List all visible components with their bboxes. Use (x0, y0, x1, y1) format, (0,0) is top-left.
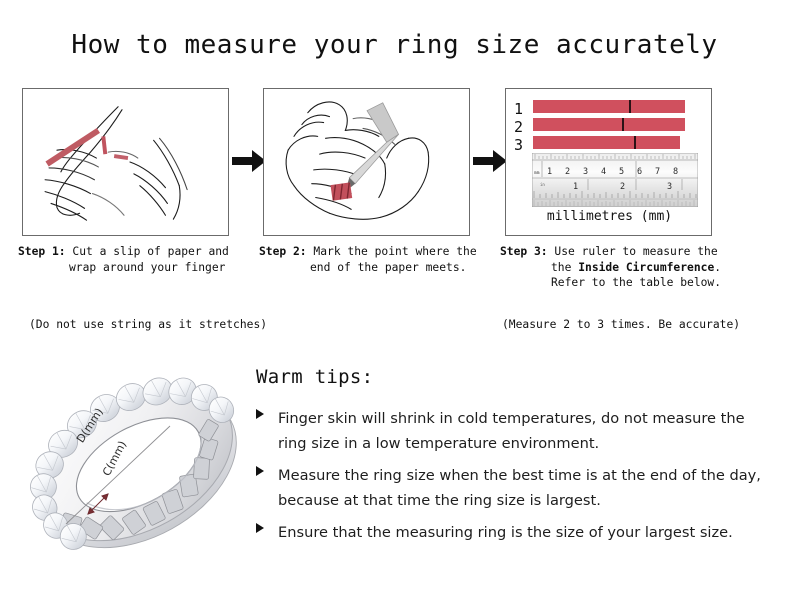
paper-strip-number-2: 2 (514, 118, 530, 136)
svg-text:mm: mm (534, 171, 540, 176)
hand-marking-with-pen-icon (264, 89, 469, 235)
step-2-line1: Mark the point where the (313, 245, 476, 258)
step-1-caption: Step 1: Cut a slip of paper and wrap aro… (18, 244, 250, 275)
triangle-bullet-icon (256, 466, 264, 476)
svg-text:8: 8 (673, 167, 678, 177)
step-2-line2: end of the paper meets. (259, 260, 491, 276)
svg-text:3: 3 (583, 167, 588, 177)
svg-text:1: 1 (547, 167, 552, 177)
step-3-line1: Use ruler to measure the (554, 245, 717, 258)
paper-strip-row-3: 3 (506, 136, 712, 149)
step-3-note: (Measure 2 to 3 times. Be accurate) (502, 318, 740, 331)
step-2-illustration-panel (263, 88, 470, 236)
paper-strip-number-1: 1 (514, 100, 530, 118)
step-1-line2: wrap around your finger (18, 260, 250, 276)
steps-section: 1 2 3 (0, 88, 789, 348)
hand-with-paper-strip-icon (23, 89, 228, 235)
paper-strip-row-2: 2 (506, 118, 712, 131)
triangle-bullet-icon (256, 409, 264, 419)
step-3-line3: Refer to the table below. (500, 275, 750, 291)
step-3-line2-pre: the (551, 261, 578, 274)
paper-strip-bar-1 (533, 100, 685, 113)
step-1-note: (Do not use string as it stretches) (29, 318, 267, 331)
step-3-line2-emphasis: Inside Circumference (578, 261, 714, 274)
ruler-icon: 123 456 78 mm 123 in (532, 153, 698, 207)
step-1-illustration-panel (22, 88, 229, 236)
svg-text:4: 4 (601, 167, 606, 177)
warm-tip-item-2: Measure the ring size when the best time… (256, 463, 776, 513)
paper-strip-tick-2 (622, 118, 624, 131)
svg-text:6: 6 (637, 167, 642, 177)
page-title: How to measure your ring size accurately (0, 30, 789, 60)
warm-tip-item-3: Ensure that the measuring ring is the si… (256, 520, 776, 545)
svg-text:3: 3 (667, 182, 672, 192)
warm-tips-section: Warm tips: Finger skin will shrink in co… (256, 366, 776, 552)
arrow-right-icon-2 (473, 148, 509, 174)
step-3-line2: the Inside Circumference. (500, 260, 750, 276)
svg-text:1: 1 (573, 182, 578, 192)
svg-text:in: in (540, 182, 545, 187)
paper-strip-tick-3 (634, 136, 636, 149)
paper-strip-bar-2 (533, 118, 685, 131)
warm-tip-item-1: Finger skin will shrink in cold temperat… (256, 406, 776, 456)
ruler-unit-caption: millimetres (mm) (506, 209, 712, 224)
step-3-label: Step 3: (500, 245, 548, 258)
paper-strip-tick-1 (629, 100, 631, 113)
step-2-caption: Step 2: Mark the point where the end of … (259, 244, 491, 275)
svg-text:2: 2 (620, 182, 625, 192)
step-3-illustration-panel: 1 2 3 (505, 88, 712, 236)
warm-tips-heading: Warm tips: (256, 366, 776, 388)
eternity-ring-illustration (22, 352, 250, 580)
step-1-label: Step 1: (18, 245, 66, 258)
warm-tip-text-1: Finger skin will shrink in cold temperat… (278, 406, 776, 456)
step-2-label: Step 2: (259, 245, 307, 258)
step-3-caption: Step 3: Use ruler to measure the the Ins… (500, 244, 750, 291)
triangle-bullet-icon (256, 523, 264, 533)
warm-tip-text-2: Measure the ring size when the best time… (278, 463, 776, 513)
ring-diagram: D(mm) C(mm) (22, 352, 250, 580)
svg-text:2: 2 (565, 167, 570, 177)
warm-tip-text-3: Ensure that the measuring ring is the si… (278, 520, 776, 545)
paper-strip-bar-3 (533, 136, 680, 149)
step-3-line2-post: . (714, 261, 721, 274)
step-1-line1: Cut a slip of paper and (72, 245, 228, 258)
svg-text:5: 5 (619, 167, 624, 177)
svg-text:7: 7 (655, 167, 660, 177)
paper-strip-number-3: 3 (514, 136, 530, 154)
paper-strip-row-1: 1 (506, 100, 712, 113)
